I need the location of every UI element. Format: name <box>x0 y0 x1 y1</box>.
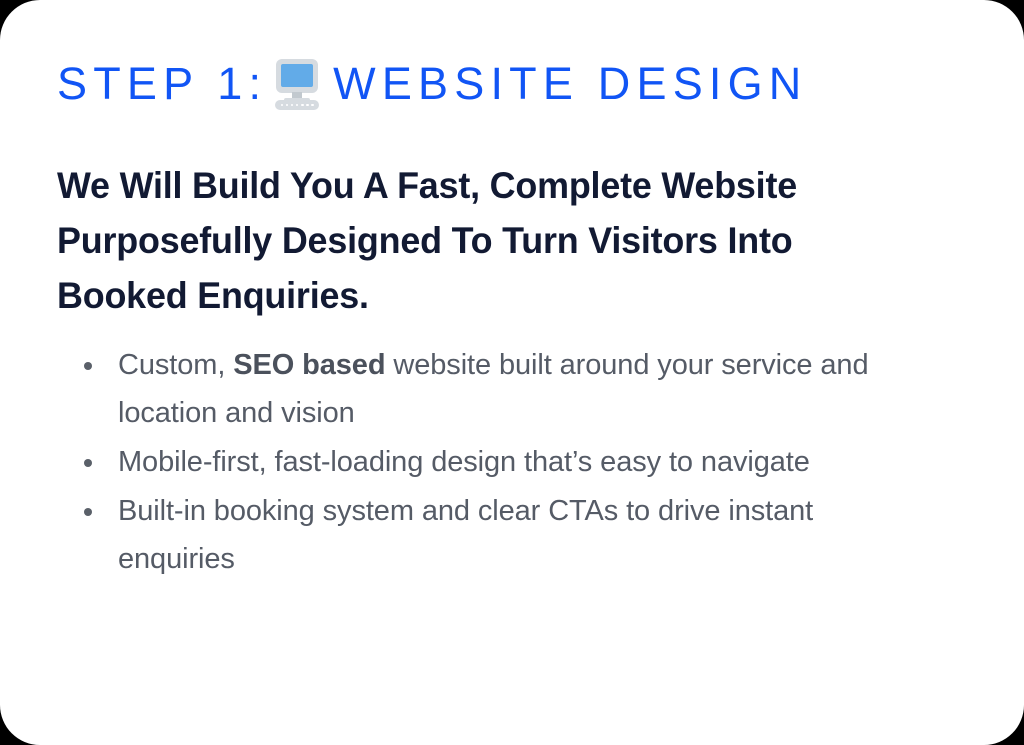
desktop-computer-icon <box>270 56 324 110</box>
section-heading: We Will Build You A Fast, Complete Websi… <box>57 158 877 323</box>
feature-list: Custom, SEO based website built around y… <box>80 341 920 584</box>
list-item: Custom, SEO based website built around y… <box>80 341 920 437</box>
list-item: Built-in booking system and clear CTAs t… <box>80 487 920 583</box>
bullet-lead: Built-in booking system and clear CTAs t… <box>118 495 813 575</box>
bullet-dot-icon <box>84 508 92 516</box>
keyboard <box>275 100 319 110</box>
bullet-dot-icon <box>84 362 92 370</box>
bullet-lead: Custom, <box>118 349 233 381</box>
step-title: STEP 1: WEBSITE DESIGN <box>57 52 977 114</box>
bullet-emphasis: SEO based <box>233 349 385 381</box>
list-item: Mobile-first, fast-loading design that’s… <box>80 438 920 486</box>
monitor-screen <box>281 64 313 87</box>
bullet-lead: Mobile-first, fast-loading design that’s… <box>118 446 810 478</box>
bullet-dot-icon <box>84 459 92 467</box>
step-title-prefix: STEP 1: <box>57 61 267 106</box>
step-title-suffix: WEBSITE DESIGN <box>333 61 807 106</box>
content-card: STEP 1: WEBSITE DESIGN We Will Build You… <box>0 0 1024 745</box>
